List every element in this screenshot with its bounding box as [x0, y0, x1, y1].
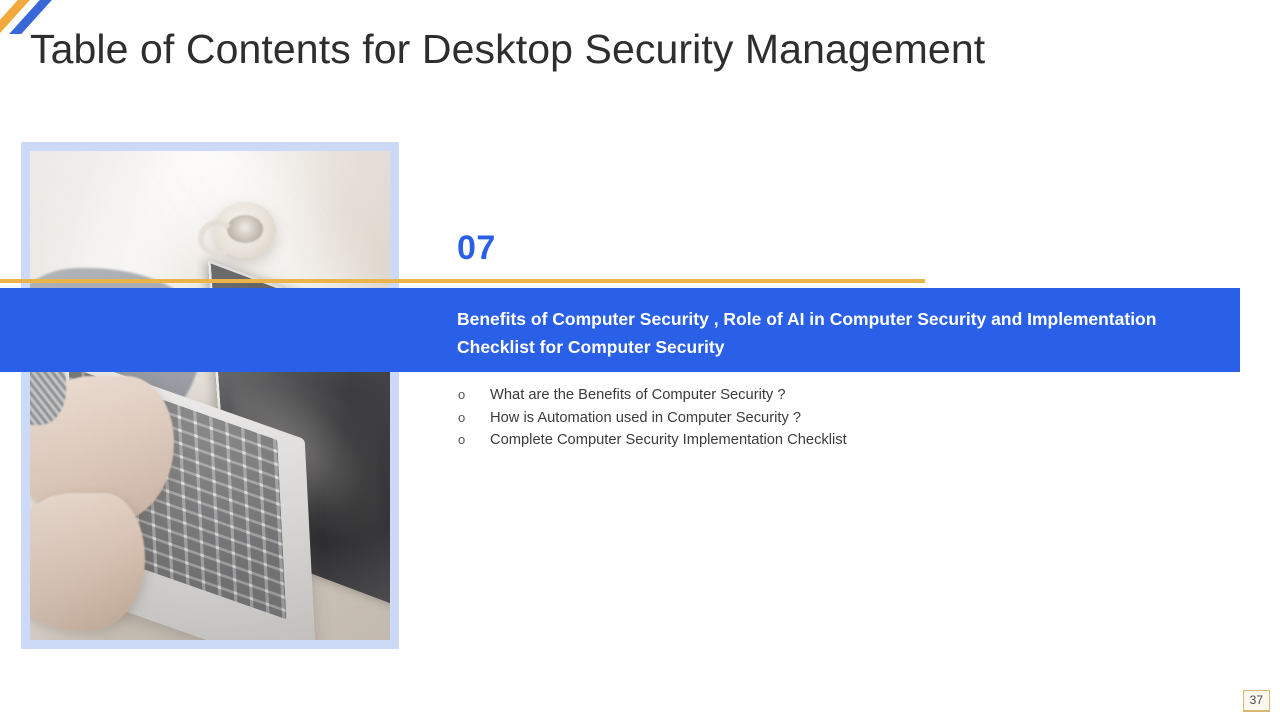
- laptop-photo: [30, 151, 390, 640]
- list-item: o How is Automation used in Computer Sec…: [452, 407, 1152, 430]
- list-item-label: How is Automation used in Computer Secur…: [490, 407, 801, 430]
- gold-divider-rule: [0, 279, 925, 283]
- list-item: o Complete Computer Security Implementat…: [452, 429, 1152, 452]
- bullet-marker-icon: o: [452, 387, 490, 402]
- bullet-marker-icon: o: [452, 410, 490, 425]
- page-title: Table of Contents for Desktop Security M…: [30, 20, 1210, 78]
- list-item-label: What are the Benefits of Computer Securi…: [490, 384, 786, 407]
- list-item: o What are the Benefits of Computer Secu…: [452, 384, 1152, 407]
- photo-frame: [21, 142, 399, 649]
- section-banner-heading: Benefits of Computer Security , Role of …: [457, 305, 1217, 361]
- slide: Table of Contents for Desktop Security M…: [0, 0, 1280, 720]
- list-item-label: Complete Computer Security Implementatio…: [490, 429, 847, 452]
- bullet-marker-icon: o: [452, 432, 490, 447]
- page-number-badge: 37: [1243, 690, 1270, 712]
- photo-vignette: [30, 151, 390, 640]
- section-number: 07: [457, 229, 496, 268]
- section-bullet-list: o What are the Benefits of Computer Secu…: [452, 384, 1152, 452]
